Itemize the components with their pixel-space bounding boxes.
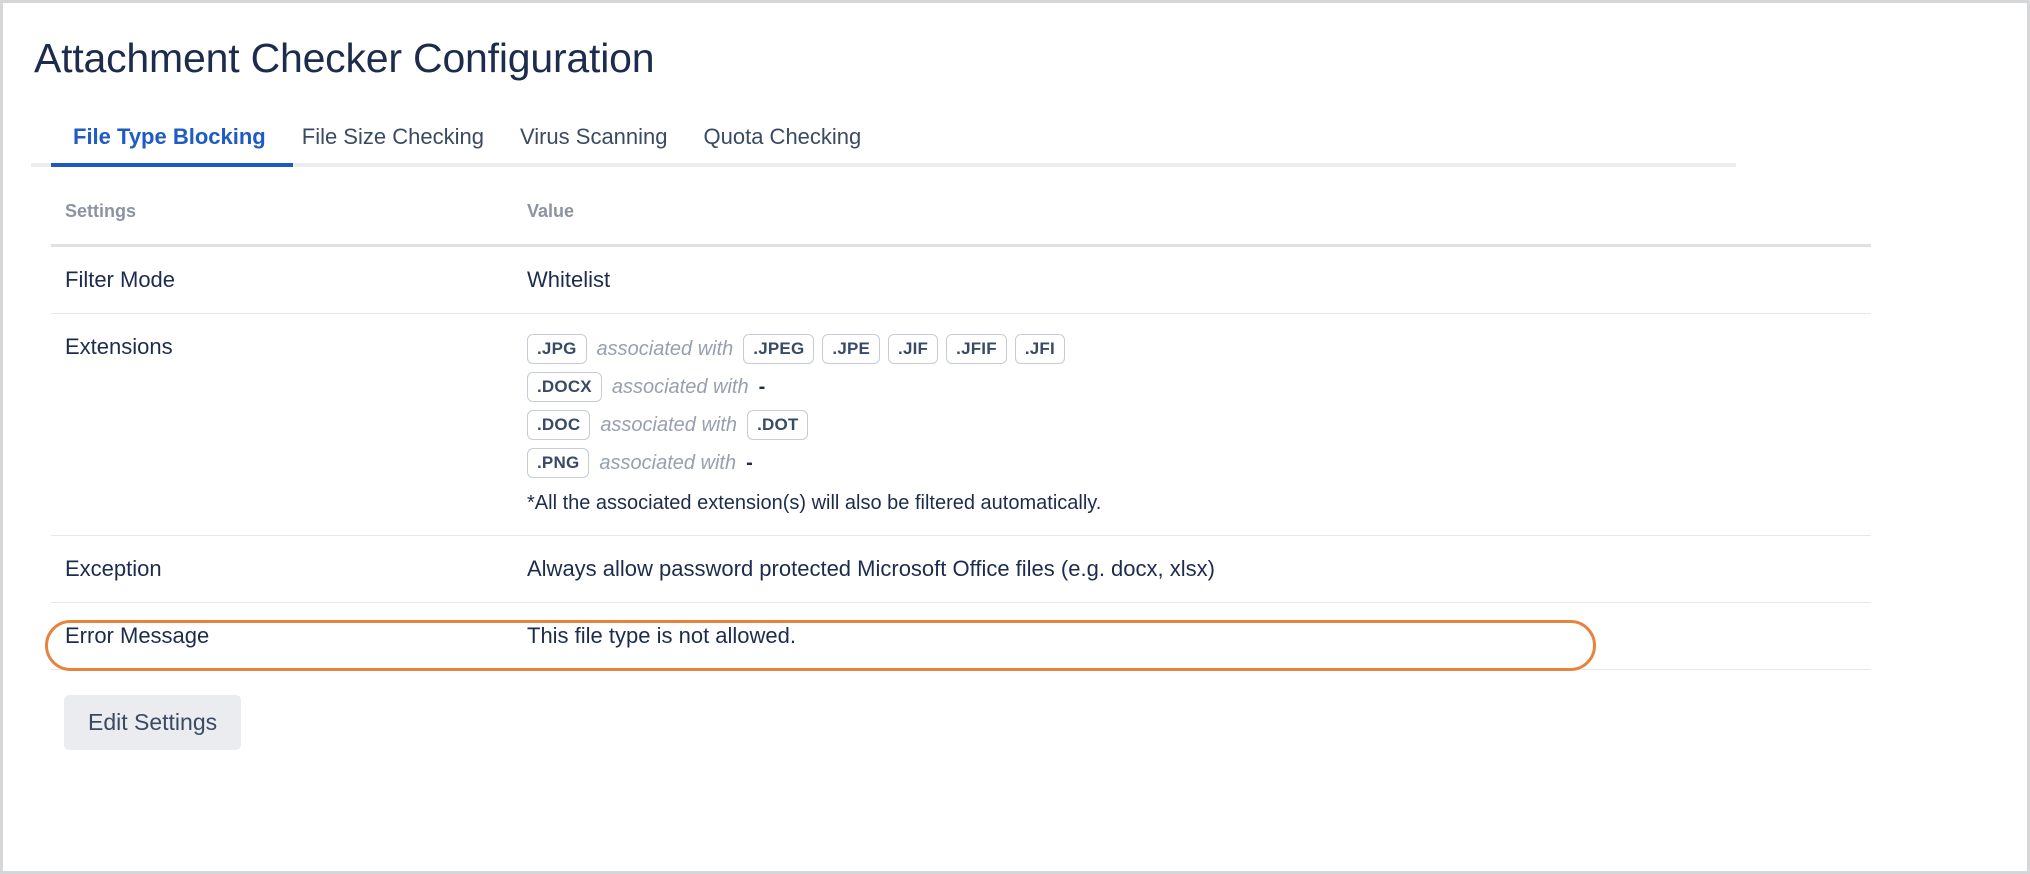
settings-table: Settings Value Filter Mode Whitelist Ext… xyxy=(51,201,1871,670)
extension-none-dash: - xyxy=(759,377,766,397)
attachment-checker-configuration-page: Attachment Checker Configuration File Ty… xyxy=(0,0,2030,874)
extension-badge-primary[interactable]: .PNG xyxy=(527,448,589,478)
page-title: Attachment Checker Configuration xyxy=(34,35,1999,82)
extensions-note: *All the associated extension(s) will al… xyxy=(527,492,1871,515)
table-row-filter-mode: Filter Mode Whitelist xyxy=(51,246,1871,314)
column-header-settings: Settings xyxy=(51,201,513,246)
extension-badge-primary[interactable]: .JPG xyxy=(527,334,587,364)
row-label-extensions: Extensions xyxy=(51,314,513,536)
extension-connector: associated with xyxy=(597,453,738,473)
tab-label: File Type Blocking xyxy=(73,124,266,149)
row-label-error-message: Error Message xyxy=(51,603,513,670)
actions-bar: Edit Settings xyxy=(64,695,1999,750)
extension-badge-associated[interactable]: .DOT xyxy=(747,410,808,440)
column-header-value: Value xyxy=(513,201,1871,246)
extension-line: .DOC associated with .DOT xyxy=(527,410,1871,440)
active-tab-indicator xyxy=(51,163,293,167)
extension-badge-associated[interactable]: .JFIF xyxy=(946,334,1007,364)
extension-line: .DOCX associated with - xyxy=(527,372,1871,402)
row-value-exception: Always allow password protected Microsof… xyxy=(513,536,1871,603)
row-value-extensions: .JPG associated with .JPEG .JPE .JIF .JF… xyxy=(513,314,1871,536)
tab-file-size-checking[interactable]: File Size Checking xyxy=(284,124,502,163)
row-label-exception: Exception xyxy=(51,536,513,603)
extension-connector: associated with xyxy=(610,377,751,397)
extension-badge-primary[interactable]: .DOCX xyxy=(527,372,602,402)
extension-badge-associated[interactable]: .JPEG xyxy=(743,334,814,364)
extension-badge-primary[interactable]: .DOC xyxy=(527,410,590,440)
tab-label: Quota Checking xyxy=(704,124,862,149)
extension-list: .JPG associated with .JPEG .JPE .JIF .JF… xyxy=(527,334,1871,478)
table-row-error-message: Error Message This file type is not allo… xyxy=(51,603,1871,670)
extension-badge-associated[interactable]: .JPE xyxy=(822,334,880,364)
extension-line: .JPG associated with .JPEG .JPE .JIF .JF… xyxy=(527,334,1871,364)
extension-badge-associated[interactable]: .JFI xyxy=(1015,334,1065,364)
extension-connector: associated with xyxy=(598,415,739,435)
extension-none-dash: - xyxy=(746,453,753,473)
row-label-filter-mode: Filter Mode xyxy=(51,246,513,314)
tab-label: Virus Scanning xyxy=(520,124,668,149)
extension-badge-associated[interactable]: .JIF xyxy=(888,334,938,364)
settings-table-body: Filter Mode Whitelist Extensions .JPG as… xyxy=(51,246,1871,670)
tab-file-type-blocking[interactable]: File Type Blocking xyxy=(51,124,284,163)
tab-label: File Size Checking xyxy=(302,124,484,149)
tab-virus-scanning[interactable]: Virus Scanning xyxy=(502,124,686,163)
edit-settings-button[interactable]: Edit Settings xyxy=(64,695,241,750)
table-row-extensions: Extensions .JPG associated with .JPEG .J… xyxy=(51,314,1871,536)
extension-connector: associated with xyxy=(595,339,736,359)
tab-bar: File Type Blocking File Size Checking Vi… xyxy=(31,124,1736,167)
tab-list: File Type Blocking File Size Checking Vi… xyxy=(31,124,1736,163)
table-header-row: Settings Value xyxy=(51,201,1871,246)
row-value-error-message: This file type is not allowed. xyxy=(513,603,1871,670)
settings-table-head: Settings Value xyxy=(51,201,1871,246)
tab-quota-checking[interactable]: Quota Checking xyxy=(686,124,880,163)
page-content: Attachment Checker Configuration File Ty… xyxy=(3,3,2027,750)
table-row-exception: Exception Always allow password protecte… xyxy=(51,536,1871,603)
row-value-filter-mode: Whitelist xyxy=(513,246,1871,314)
extension-line: .PNG associated with - xyxy=(527,448,1871,478)
